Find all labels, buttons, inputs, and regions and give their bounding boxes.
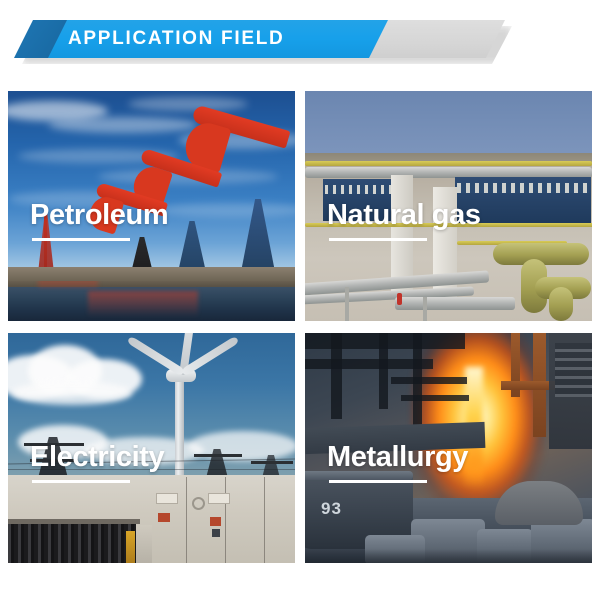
rusty-pipe bbox=[501, 381, 555, 390]
card-natural-gas[interactable]: Natural gas bbox=[305, 91, 592, 321]
card-label: Natural gas bbox=[327, 199, 481, 232]
power-pylon-crossarm bbox=[251, 461, 293, 464]
gas-pipeline bbox=[549, 287, 573, 321]
card-electricity[interactable]: Electricity bbox=[8, 333, 295, 563]
application-field-banner: APPLICATION FIELD bbox=[0, 20, 520, 58]
application-field-grid: Petroleum bbox=[8, 91, 592, 573]
card-metallurgy[interactable]: 93 Metallurgy bbox=[305, 333, 592, 563]
card-label: Petroleum bbox=[30, 199, 168, 232]
cabinet-indicator bbox=[212, 529, 220, 537]
cabinet-indicator bbox=[158, 513, 170, 522]
structural-column bbox=[379, 333, 388, 409]
cabinet-seams bbox=[148, 477, 295, 563]
yellow-railing bbox=[305, 161, 592, 166]
structural-beam bbox=[391, 377, 467, 384]
rack-frame bbox=[8, 519, 140, 524]
card-label: Electricity bbox=[30, 441, 164, 474]
cloud-icon bbox=[48, 117, 198, 133]
cabinet-label bbox=[208, 493, 230, 504]
cabinet-gauge bbox=[192, 497, 205, 510]
page-title: APPLICATION FIELD bbox=[68, 20, 284, 58]
rack-accent bbox=[126, 531, 135, 563]
rack-panel bbox=[136, 525, 152, 563]
equipment-detail bbox=[457, 183, 589, 193]
card-label-underline bbox=[329, 480, 427, 483]
card-label-underline bbox=[32, 238, 130, 241]
cabinet-label bbox=[156, 493, 178, 504]
cloud-icon bbox=[12, 381, 132, 405]
card-label-underline bbox=[329, 238, 427, 241]
ladle-number: 93 bbox=[321, 499, 342, 519]
application-field-page: APPLICATION FIELD bbox=[0, 0, 600, 600]
casting-shadow bbox=[305, 549, 592, 563]
mill-structure-right-detail bbox=[555, 343, 592, 397]
card-petroleum[interactable]: Petroleum bbox=[8, 91, 295, 321]
cloud-icon bbox=[128, 97, 248, 111]
pipe-support bbox=[423, 297, 427, 321]
battery-rack bbox=[8, 523, 136, 563]
structural-column bbox=[331, 333, 342, 419]
power-pylon-crossarm bbox=[194, 454, 242, 457]
valve-marker bbox=[397, 293, 402, 305]
shoreline-strip bbox=[8, 267, 295, 281]
water-reflection bbox=[88, 291, 198, 317]
card-label-underline bbox=[32, 480, 130, 483]
structural-beam bbox=[401, 395, 469, 401]
card-label: Metallurgy bbox=[327, 441, 468, 474]
cloud-icon bbox=[158, 203, 295, 217]
pipe-run bbox=[395, 297, 515, 310]
cabinet-indicator bbox=[210, 517, 221, 526]
pipe-support bbox=[345, 287, 349, 321]
